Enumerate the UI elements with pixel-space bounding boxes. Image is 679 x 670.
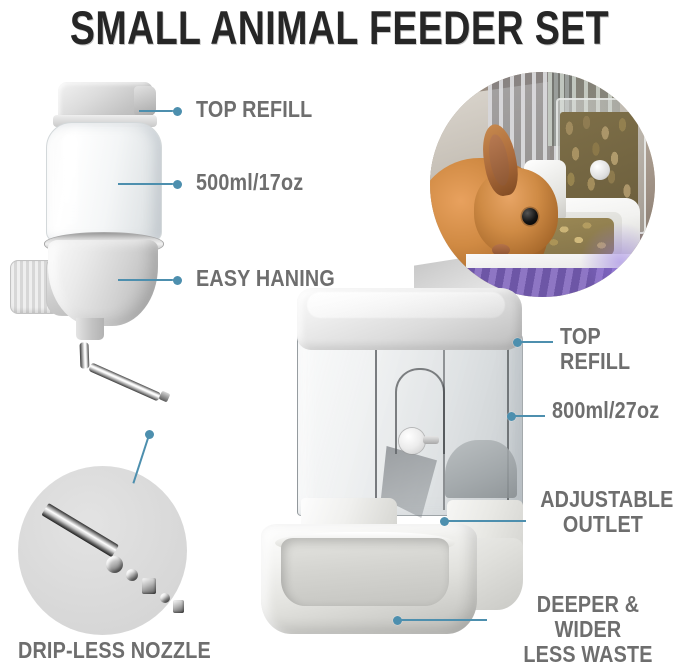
photo-rabbit-eye bbox=[522, 208, 538, 225]
leader-line-capacity-feeder bbox=[515, 415, 545, 417]
nozzle-ball-small bbox=[160, 593, 170, 603]
feeder-adjust-knob-body bbox=[399, 428, 425, 454]
leader-dot-capacity-bottle bbox=[173, 180, 182, 189]
leader-line-adjustable-outlet bbox=[448, 520, 526, 522]
leader-line-top-refill-bottle bbox=[139, 110, 177, 112]
photo-adjust-knob bbox=[590, 160, 610, 180]
nozzle-closeup-tube bbox=[41, 503, 118, 557]
nozzle-cylinder-small bbox=[173, 600, 184, 613]
leader-line-top-refill-feeder bbox=[521, 341, 553, 343]
callout-easy-hanging: EASY HANING bbox=[196, 266, 335, 291]
feeder-bowl-cavity bbox=[281, 538, 449, 606]
nozzle-cylinder-large bbox=[142, 578, 156, 594]
feeder-food-mound bbox=[445, 440, 517, 498]
callout-capacity-feeder: 800ml/27oz bbox=[552, 398, 659, 423]
callout-capacity-bottle: 500ml/17oz bbox=[196, 170, 303, 195]
nozzle-ball-medium bbox=[126, 569, 138, 581]
rabbit-lifestyle-photo bbox=[430, 72, 655, 297]
nozzle-tube-vertical bbox=[80, 342, 90, 368]
callout-deeper-wider: DEEPER & WIDER LESS WASTE bbox=[511, 592, 666, 667]
feeder-adjust-knob bbox=[399, 428, 425, 454]
bottle-neck bbox=[76, 318, 104, 340]
callout-drip-less-nozzle: DRIP-LESS NOZZLE bbox=[18, 638, 211, 663]
feeder-product-image bbox=[255, 288, 545, 640]
infographic-page: SMALL ANIMAL FEEDER SET TOP REFILL 500ml… bbox=[0, 0, 679, 670]
nozzle-tube-tip bbox=[159, 391, 171, 403]
feeder-adjust-knob-stem bbox=[423, 436, 439, 444]
nozzle-ball-large bbox=[106, 556, 123, 573]
leader-dot-easy-hanging bbox=[173, 276, 182, 285]
photo-light-glow bbox=[580, 222, 655, 297]
callout-top-refill-feeder: TOP REFILL bbox=[560, 324, 662, 374]
leader-line-deeper-wider bbox=[401, 619, 487, 621]
page-title: SMALL ANIMAL FEEDER SET bbox=[68, 2, 611, 54]
nozzle-detail-circle bbox=[18, 466, 187, 635]
feeder-inner-wall-left bbox=[375, 336, 377, 508]
nozzle-tube-diagonal bbox=[88, 362, 161, 401]
feeder-lid-highlight bbox=[307, 292, 505, 318]
water-bottle-product-image bbox=[10, 82, 195, 332]
leader-dot-top-refill-bottle bbox=[173, 107, 182, 116]
callout-top-refill-bottle: TOP REFILL bbox=[196, 97, 312, 122]
leader-line-easy-hanging bbox=[118, 279, 176, 281]
callout-adjustable-outlet: ADJUSTABLE OUTLET bbox=[540, 487, 666, 537]
bottle-base-housing bbox=[48, 240, 158, 326]
bottle-highlight bbox=[62, 134, 78, 226]
leader-line-capacity-bottle bbox=[118, 183, 176, 185]
